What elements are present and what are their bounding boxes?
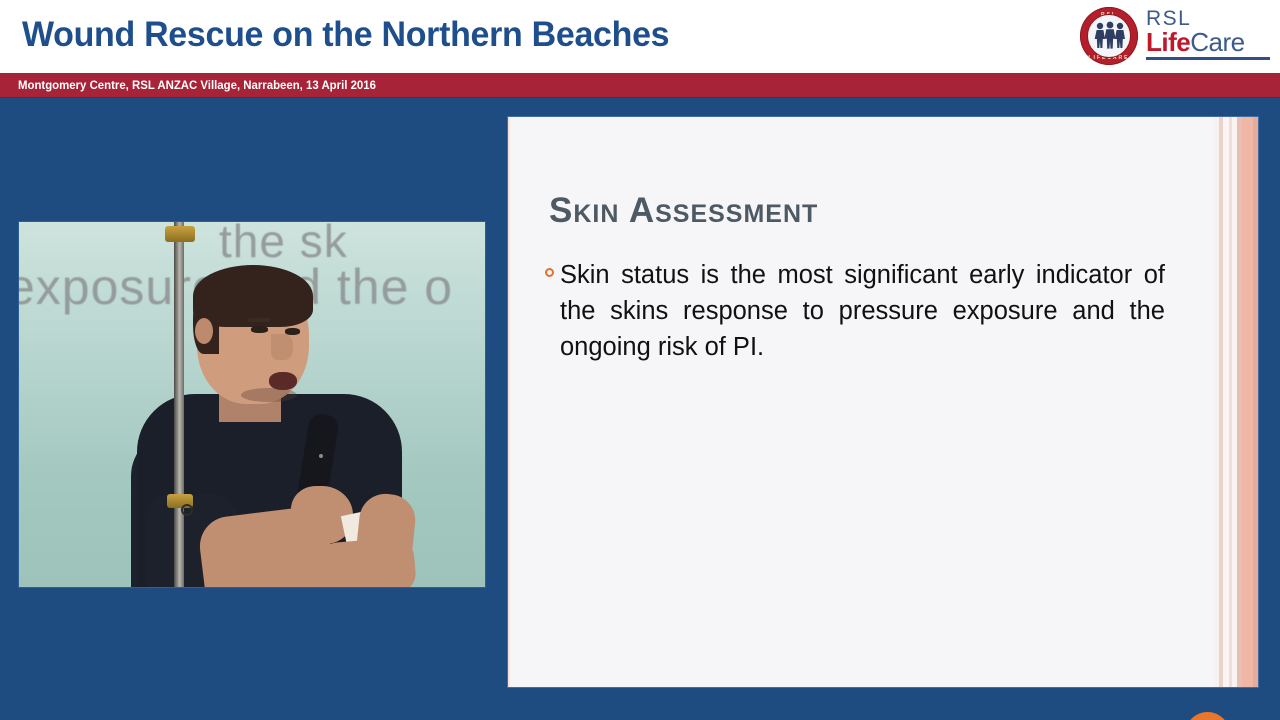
mic-stand-clip [181, 504, 193, 516]
stripe-7 [1242, 117, 1253, 687]
badge-inner-disc [1087, 14, 1131, 58]
page-title: Wound Rescue on the Northern Beaches [22, 15, 669, 55]
speaker-chin-shadow [241, 388, 297, 402]
stripe-8 [1253, 117, 1258, 687]
logo-life-text: Life [1146, 27, 1190, 57]
speaker-eye-left [251, 326, 268, 333]
speaker-ear [195, 318, 213, 344]
bullet-marker-icon [545, 268, 554, 277]
slide-bullet-item: Skin status is the most significant earl… [545, 257, 1165, 365]
speaker-eyebrow [248, 318, 270, 322]
speaker-video-panel[interactable]: the sk exposure and the o [18, 221, 486, 588]
logo-lifecare-text: LifeCare [1146, 29, 1270, 56]
speaker-nose [271, 334, 293, 360]
page-header: Wound Rescue on the Northern Beaches RSL… [0, 0, 1280, 73]
logo-wordmark: RSL LifeCare [1146, 8, 1270, 60]
rsl-lifecare-logo: RSL LIFECARE RSL LifeCare [1080, 4, 1270, 68]
logo-care-text: Care [1190, 27, 1244, 57]
slide-title: Skin Assessment [549, 191, 818, 231]
slide-right-accent-stripes [1214, 117, 1258, 687]
logo-rsl-text: RSL [1146, 8, 1270, 29]
event-subtitle-text: Montgomery Centre, RSL ANZAC Village, Na… [18, 78, 376, 92]
slide-decorative-orange-dot [1185, 712, 1230, 720]
rsl-badge-icon: RSL LIFECARE [1080, 7, 1138, 65]
microphone-stand [174, 222, 184, 588]
presentation-slide-panel[interactable]: Skin Assessment Skin status is the most … [507, 116, 1259, 688]
logo-underline-rule [1146, 57, 1270, 60]
slide-left-accent-stripe [508, 117, 512, 687]
mic-stand-top-knob [165, 226, 195, 242]
speaker-left-hand [352, 491, 418, 588]
event-subtitle-bar: Montgomery Centre, RSL ANZAC Village, Na… [0, 73, 1280, 98]
slide-bullet-text: Skin status is the most significant earl… [560, 257, 1165, 365]
three-figures-icon [1088, 15, 1131, 58]
video-scene: the sk exposure and the o [19, 222, 485, 587]
microphone-indicator-dot [319, 454, 323, 458]
